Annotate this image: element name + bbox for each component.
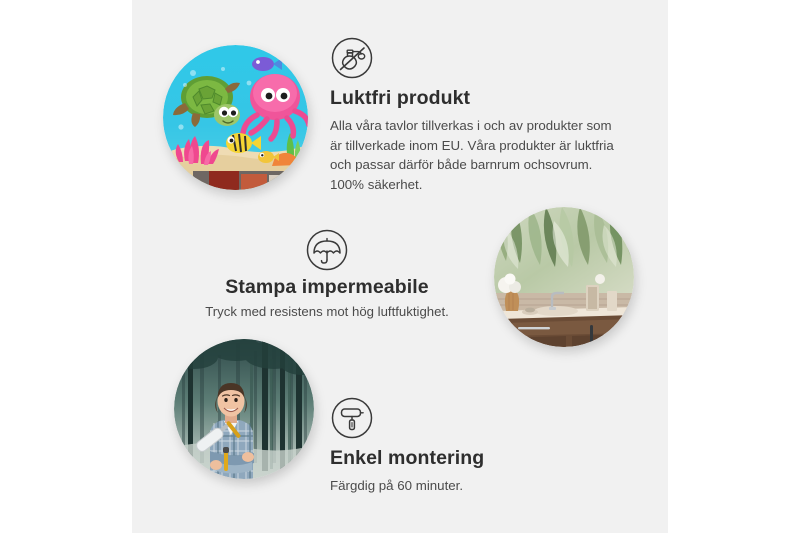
umbrella-icon [305,228,349,272]
feature-body: Färgdig på 60 minuter. [330,476,590,496]
infographic-page: Luktfri produkt Alla våra tavlor tillver… [0,0,800,533]
feature-waterproof: Stampa impermeabile Tryck med resistens … [196,228,458,322]
underwater-cartoon-photo [163,45,308,190]
feature-title: Enkel montering [330,447,590,470]
no-fragrance-icon [330,36,374,80]
feature-title: Luktfri produkt [330,87,622,110]
feature-odourless: Luktfri produkt Alla våra tavlor tillver… [330,36,622,195]
feature-body: Alla våra tavlor tillverkas i och av pro… [330,116,622,194]
feature-title: Stampa impermeabile [196,276,458,299]
bathroom-wallpaper-photo [494,207,634,347]
feature-body: Tryck med resistens mot hög luftfuktighe… [196,302,458,321]
paint-roller-icon [330,396,374,440]
feature-easy-mounting: Enkel montering Färgdig på 60 minuter. [330,396,590,496]
decorator-forest-photo [174,339,314,479]
